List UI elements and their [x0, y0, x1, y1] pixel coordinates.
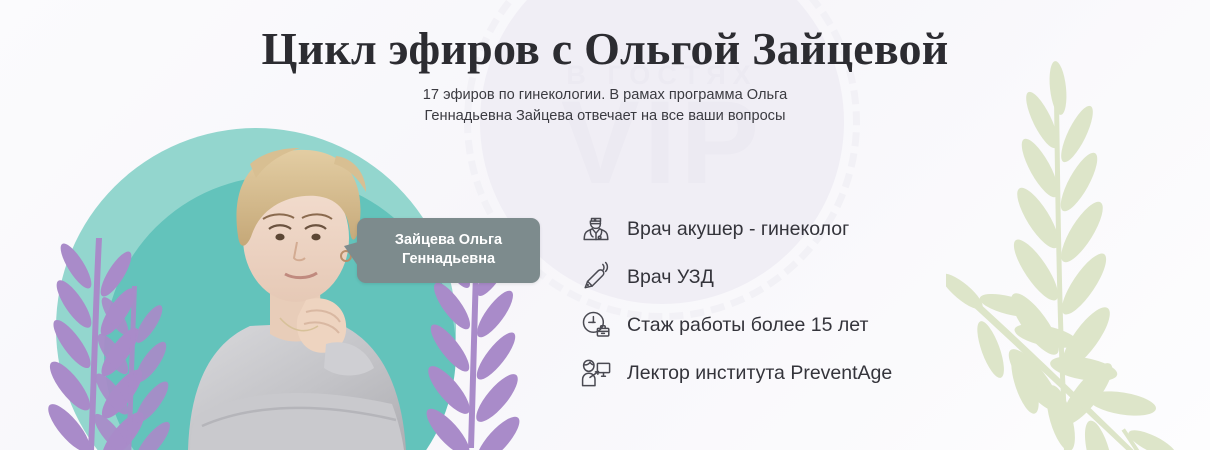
page-title: Цикл эфиров с Ольгой Зайцевой	[0, 22, 1210, 75]
speaker-name-badge: Зайцева Ольга Геннадьевна	[357, 218, 540, 283]
list-item: Лектор института PreventAge	[576, 349, 892, 397]
ultrasound-probe-icon	[576, 257, 616, 297]
lecturer-board-icon	[576, 353, 616, 393]
credential-label: Стаж работы более 15 лет	[627, 314, 868, 337]
purple-fern-left	[52, 238, 142, 450]
credentials-list: Врач акушер - гинеколог Врач УЗД	[576, 205, 892, 397]
credential-label: Врач акушер - гинеколог	[627, 218, 849, 241]
credential-label: Лектор института PreventAge	[627, 362, 892, 385]
credential-label: Врач УЗД	[627, 266, 714, 289]
doctor-icon	[576, 209, 616, 249]
list-item: Врач акушер - гинеколог	[576, 205, 892, 253]
teal-circle-outer	[56, 128, 456, 450]
promo-banner: В ГОСТЯХ VIP	[0, 0, 1210, 450]
list-item: Стаж работы более 15 лет	[576, 301, 892, 349]
clock-briefcase-icon	[576, 305, 616, 345]
page-subtitle: 17 эфиров по гинекологии. В рамах програ…	[390, 85, 820, 126]
purple-fern-left-secondary	[96, 286, 170, 450]
speaker-name-line2: Геннадьевна	[367, 250, 530, 269]
list-item: Врач УЗД	[576, 253, 892, 301]
speaker-name-line1: Зайцева Ольга	[367, 231, 530, 250]
